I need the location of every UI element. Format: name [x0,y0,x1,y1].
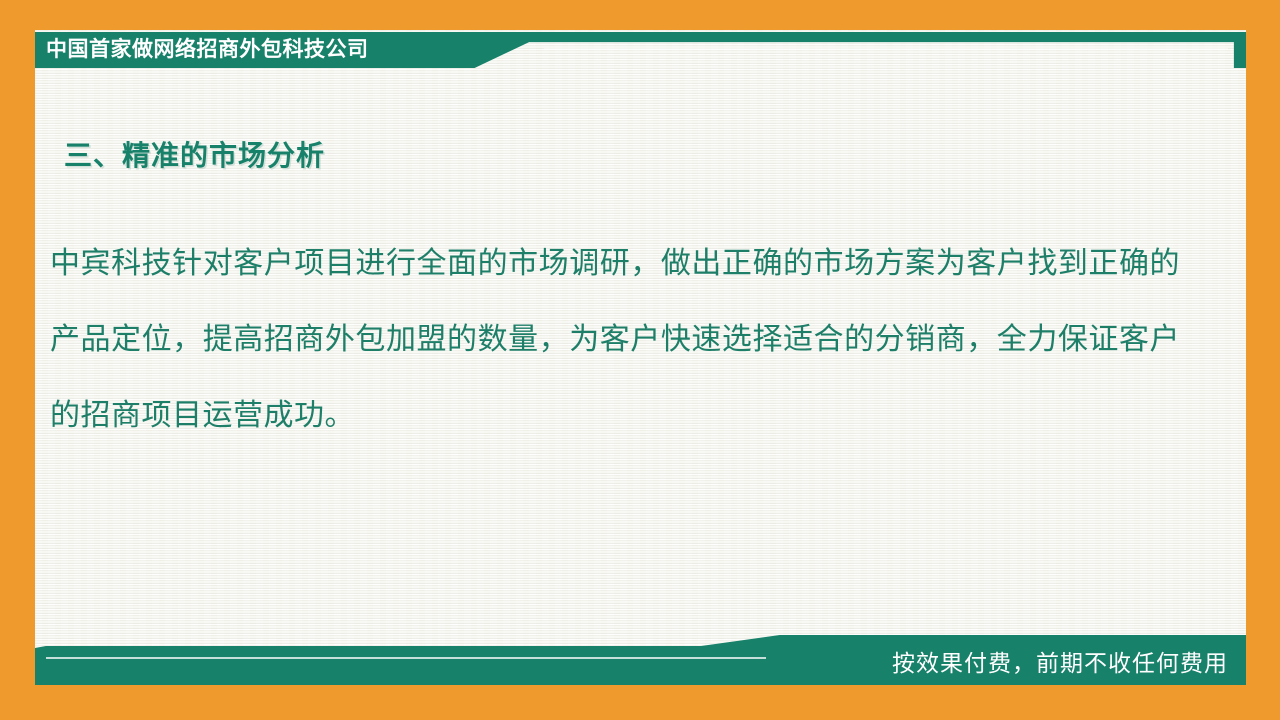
footer-slogan: 按效果付费，前期不收任何费用 [892,644,1228,678]
header-accent-line [544,48,1228,50]
page-title: 三、精准的市场分析 [64,134,325,174]
body-paragraph: 中宾科技针对客户项目进行全面的市场调研，做出正确的市场方案为客户找到正确的产品定… [50,226,1180,454]
header-banner: 中国首家做网络招商外包科技公司 [35,32,1246,68]
header-title: 中国首家做网络招商外包科技公司 [46,32,369,68]
footer-accent-line [46,657,767,659]
slide: 中国首家做网络招商外包科技公司 三、精准的市场分析 中宾科技针对客户项目进行全面… [0,0,1280,720]
body-paragraph-block: 中宾科技针对客户项目进行全面的市场调研，做出正确的市场方案为客户找到正确的产品定… [50,226,1180,454]
footer-banner: 按效果付费，前期不收任何费用 [35,635,1246,685]
